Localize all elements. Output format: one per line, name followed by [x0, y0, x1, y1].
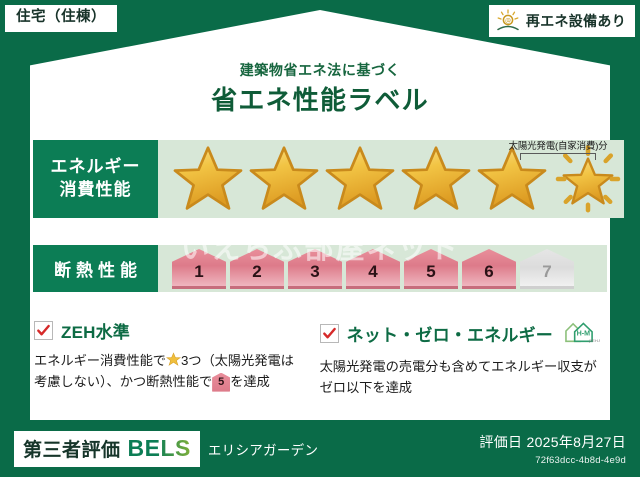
check-icon — [36, 323, 51, 338]
criterion-net-zero-header: ネット・ゼロ・エネルギー H-M (ZEH-M) — [320, 318, 600, 349]
criterion-zeh-grade-badge: 5 — [212, 373, 230, 392]
star-3 — [324, 143, 396, 215]
star-4 — [400, 143, 472, 215]
star-2 — [248, 143, 320, 215]
criterion-net-zero: ネット・ゼロ・エネルギー H-M (ZEH-M) 太陽光発電の売電分も含めてエネ… — [312, 318, 610, 418]
energy-performance-row: エネルギー 消費性能 太陽光発電(自家消費)分 — [33, 140, 607, 218]
insulation-grade-4: 4 — [346, 249, 400, 289]
energy-performance-label: 住宅（住棟） @ 再エネ設備あり 建築物省エネ法に基づく 省エネ性能ラベル いえ… — [0, 0, 640, 477]
insulation-grade-5: 5 — [404, 249, 458, 289]
insulation-performance-row: 断熱性能 1234567 — [33, 245, 607, 292]
insulation-grade-1: 1 — [172, 249, 226, 289]
estate-name: エリシアガーデン — [208, 439, 318, 459]
energy-star-track: 太陽光発電(自家消費)分 — [158, 140, 624, 218]
inline-star-icon — [166, 352, 181, 367]
energy-performance-label: エネルギー 消費性能 — [33, 140, 158, 218]
criterion-zeh-text-1: エネルギー消費性能で — [34, 353, 166, 368]
criterion-zeh-text-3: を達成 — [230, 374, 270, 389]
solar-annotation: 太陽光発電(自家消費)分 — [495, 138, 621, 160]
criterion-zeh-header: ZEH水準 — [34, 318, 302, 343]
criterion-zeh-body: エネルギー消費性能で3つ（太陽光発電は考慮しない）、かつ断熱性能で5を達成 — [34, 351, 302, 392]
insulation-grade-6: 6 — [462, 249, 516, 289]
svg-text:H-M: H-M — [577, 330, 591, 338]
renewable-equipment-badge: @ 再エネ設備あり — [489, 5, 635, 37]
star-1 — [172, 143, 244, 215]
renewable-equipment-label: 再エネ設備あり — [526, 11, 626, 31]
bels-badge: 第三者評価 BELS — [14, 431, 200, 467]
criteria-section: ZEH水準 エネルギー消費性能で3つ（太陽光発電は考慮しない）、かつ断熱性能で5… — [30, 318, 610, 418]
svg-text:@: @ — [505, 18, 511, 25]
insulation-grade-7: 7 — [520, 249, 574, 289]
evaluation-id: 72f63dcc-4b8d-4e9d — [479, 455, 626, 466]
criterion-net-zero-title: ネット・ゼロ・エネルギー — [347, 321, 553, 346]
criterion-net-zero-body: 太陽光発電の売電分も含めてエネルギー収支がゼロ以下を達成 — [320, 357, 600, 398]
solar-annotation-label: 太陽光発電(自家消費)分 — [495, 138, 621, 152]
svg-text:(ZEH-M): (ZEH-M) — [588, 338, 600, 343]
criterion-zeh-title: ZEH水準 — [61, 318, 130, 343]
insulation-grade-2: 2 — [230, 249, 284, 289]
check-icon — [322, 326, 337, 341]
insulation-grade-group: 1234567 — [158, 245, 574, 292]
label-title: 省エネ性能ラベル — [0, 80, 640, 117]
insulation-grade-3: 3 — [288, 249, 342, 289]
energy-label-line-1: エネルギー — [51, 156, 141, 179]
label-footer: 第三者評価 BELS エリシアガーデン 評価日 2025年8月27日 72f63… — [0, 420, 640, 477]
criterion-zeh: ZEH水準 エネルギー消費性能で3つ（太陽光発電は考慮しない）、かつ断熱性能で5… — [30, 318, 312, 418]
bels-en-label: BELS — [128, 435, 191, 462]
solar-annotation-bracket — [520, 153, 596, 160]
zeh-m-house-logo: H-M (ZEH-M) — [561, 318, 600, 349]
housing-type-tag: 住宅（住棟） — [5, 5, 117, 32]
zeh-checkbox[interactable] — [34, 321, 53, 340]
label-subtitle: 建築物省エネ法に基づく — [0, 60, 640, 80]
sun-renewable-icon: @ — [495, 9, 521, 33]
insulation-performance-label: 断熱性能 — [33, 245, 158, 292]
insulation-grade-track: 1234567 — [158, 245, 607, 292]
energy-label-line-2: 消費性能 — [60, 179, 132, 202]
net-zero-checkbox[interactable] — [320, 324, 339, 343]
evaluation-date: 評価日 2025年8月27日 — [479, 432, 626, 452]
evaluation-info: 評価日 2025年8月27日 72f63dcc-4b8d-4e9d — [479, 432, 626, 466]
bels-jp-label: 第三者評価 — [23, 435, 121, 462]
